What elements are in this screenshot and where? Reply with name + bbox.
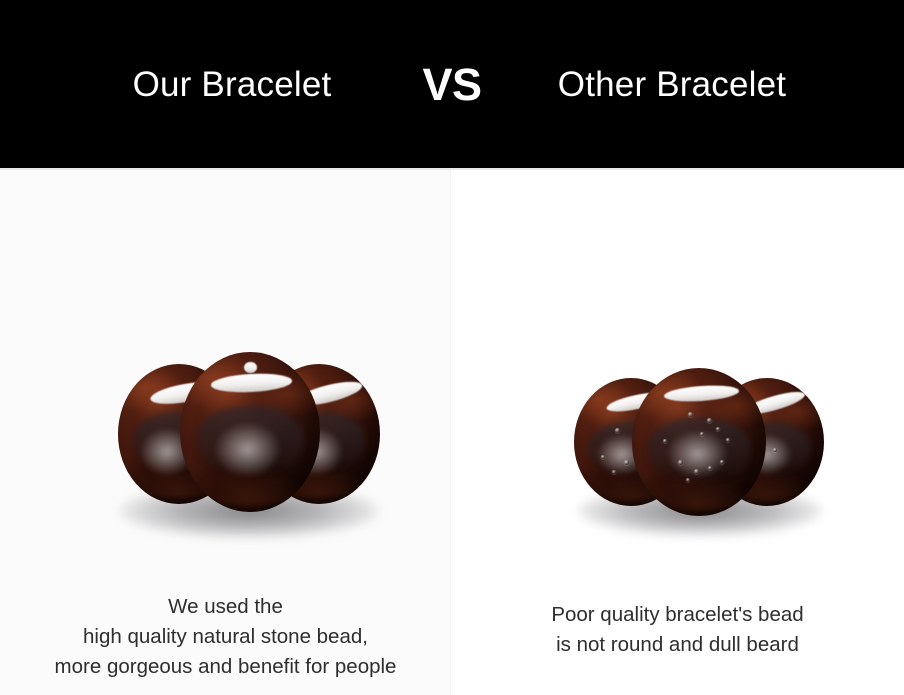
caption-line: more gorgeous and benefit for people	[0, 652, 451, 682]
bead-surface-pit	[663, 439, 667, 443]
our-bracelet-bead-photo	[118, 352, 380, 552]
other-bracelet-caption: Poor quality bracelet's bead is not roun…	[451, 600, 904, 660]
bead-gloss-spot	[244, 362, 257, 373]
other-bead-center	[632, 368, 766, 516]
caption-line: Poor quality bracelet's bead	[451, 600, 904, 630]
comparison-infographic: Our Bracelet VS Other Bracelet	[0, 0, 904, 695]
other-bracelet-bead-photo	[574, 368, 824, 548]
header-left-title: Our Bracelet	[67, 67, 397, 102]
our-bracelet-caption: We used the high quality natural stone b…	[0, 592, 451, 682]
caption-line: high quality natural stone bead,	[0, 622, 451, 652]
caption-line: is not round and dull beard	[451, 630, 904, 660]
caption-line: We used the	[0, 592, 451, 622]
header-right-title: Other Bracelet	[507, 67, 837, 102]
bead-surface-pit	[615, 428, 620, 433]
other-bracelet-bead-stage	[574, 368, 824, 548]
header-content: Our Bracelet VS Other Bracelet	[0, 0, 904, 168]
our-bead-center	[180, 352, 320, 512]
bead-surface-pit	[726, 438, 730, 442]
our-bracelet-bead-stage	[118, 352, 380, 552]
header-vs-label: VS	[397, 62, 507, 107]
bead-rim-light	[643, 472, 756, 510]
bead-surface-pit	[700, 432, 704, 436]
bead-rim-light	[191, 464, 309, 506]
bead-surface-pit	[678, 460, 683, 465]
